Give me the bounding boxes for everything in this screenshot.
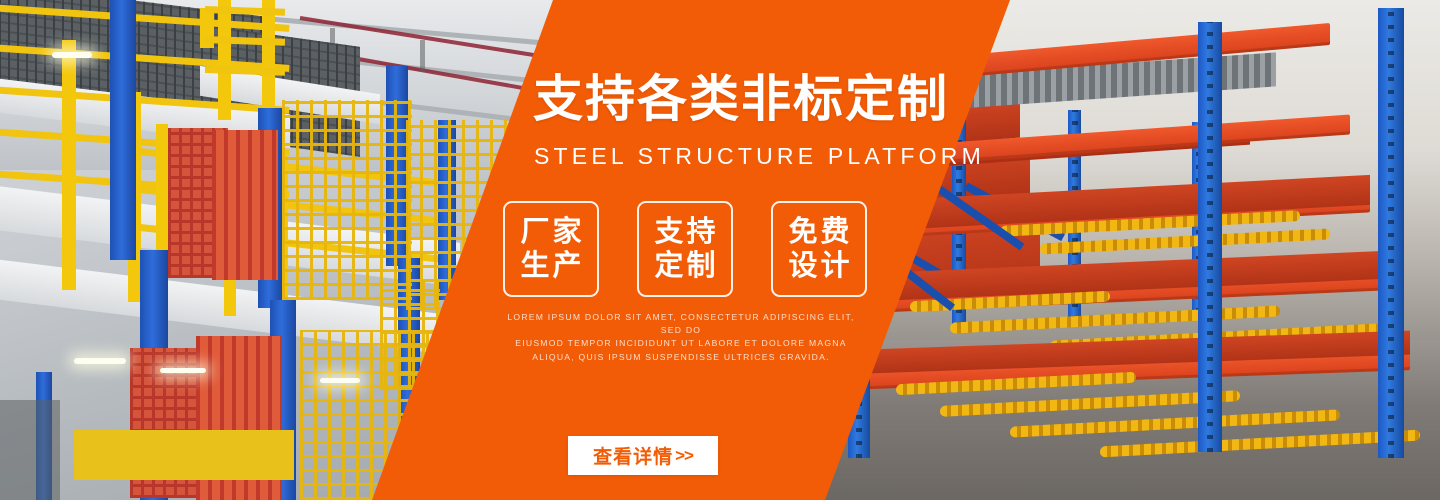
description-line-3: ALIQUA, QUIS IPSUM SUSPENDISSE ULTRICES … xyxy=(506,351,856,364)
promo-banner: 支持各类非标定制 STEEL STRUCTURE PLATFORM 厂家 生产 … xyxy=(0,0,1440,500)
badge-line-2: 生产 xyxy=(517,249,584,283)
badge-line-1: 支持 xyxy=(651,215,718,249)
cta-label: 查看详情 xyxy=(593,442,673,469)
feature-badge-manufacturer[interactable]: 厂家 生产 xyxy=(503,201,599,297)
badge-line-2: 设计 xyxy=(785,249,852,283)
feature-badge-free-design[interactable]: 免费 设计 xyxy=(771,201,867,297)
feature-badge-customization[interactable]: 支持 定制 xyxy=(637,201,733,297)
double-chevron-right-icon: >> xyxy=(675,446,693,466)
description-line-2: EIUSMOD TEMPOR INCIDIDUNT UT LABORE ET D… xyxy=(506,337,856,350)
feature-badge-group: 厂家 生产 支持 定制 免费 设计 xyxy=(503,201,867,297)
description-text: LOREM IPSUM DOLOR SIT AMET, CONSECTETUR … xyxy=(506,311,856,364)
badge-line-1: 厂家 xyxy=(517,215,584,249)
badge-line-1: 免费 xyxy=(785,215,852,249)
subheadline: STEEL STRUCTURE PLATFORM xyxy=(534,145,994,168)
description-line-1: LOREM IPSUM DOLOR SIT AMET, CONSECTETUR … xyxy=(506,311,856,337)
badge-line-2: 定制 xyxy=(651,249,718,283)
banner-content: 支持各类非标定制 STEEL STRUCTURE PLATFORM 厂家 生产 … xyxy=(0,0,1440,500)
headline: 支持各类非标定制 xyxy=(533,74,973,124)
view-details-button[interactable]: 查看详情 >> xyxy=(568,436,718,475)
